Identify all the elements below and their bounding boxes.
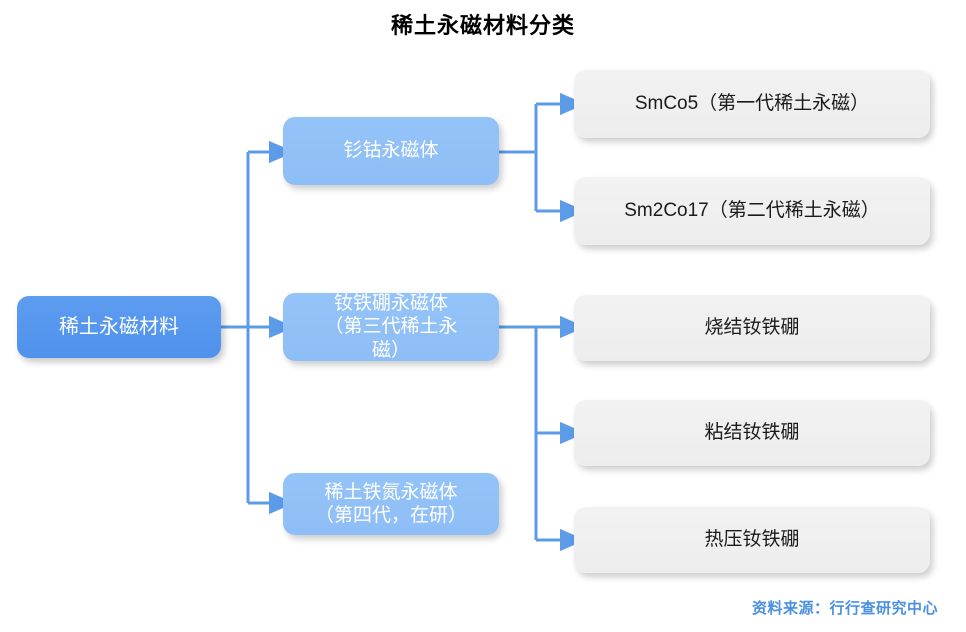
diagram-canvas: 稀土永磁材料分类	[0, 0, 966, 632]
node-smco5[interactable]: SmCo5（第一代稀土永磁）	[574, 70, 930, 138]
node-ndfeb-label: 钕铁硼永磁体 （第三代稀土永 磁）	[304, 292, 479, 362]
node-bonded-ndfeb-label: 粘结钕铁硼	[704, 421, 799, 444]
node-hot-pressed-ndfeb[interactable]: 热压钕铁硼	[574, 507, 930, 573]
node-samarium-cobalt[interactable]: 钐钴永磁体	[283, 117, 499, 185]
node-bonded-ndfeb[interactable]: 粘结钕铁硼	[574, 400, 930, 466]
node-sm2co17[interactable]: Sm2Co17（第二代稀土永磁）	[574, 177, 930, 245]
node-sintered-ndfeb[interactable]: 烧结钕铁硼	[574, 295, 930, 361]
node-rare-earth-iron-nitride[interactable]: 稀土铁氮永磁体 （第四代，在研）	[283, 473, 499, 535]
node-root[interactable]: 稀土永磁材料	[17, 296, 221, 358]
node-ndfeb[interactable]: 钕铁硼永磁体 （第三代稀土永 磁）	[283, 293, 499, 361]
source-note: 资料来源：行行查研究中心	[752, 597, 938, 618]
page-title: 稀土永磁材料分类	[0, 8, 966, 40]
node-samarium-cobalt-label: 钐钴永磁体	[343, 139, 438, 162]
node-rare-earth-iron-nitride-label: 稀土铁氮永磁体 （第四代，在研）	[315, 481, 467, 527]
node-root-label: 稀土永磁材料	[59, 315, 179, 339]
node-sm2co17-label: Sm2Co17（第二代稀土永磁）	[624, 199, 880, 222]
node-smco5-label: SmCo5（第一代稀土永磁）	[635, 92, 869, 115]
node-hot-pressed-ndfeb-label: 热压钕铁硼	[704, 528, 799, 551]
node-sintered-ndfeb-label: 烧结钕铁硼	[704, 316, 799, 339]
